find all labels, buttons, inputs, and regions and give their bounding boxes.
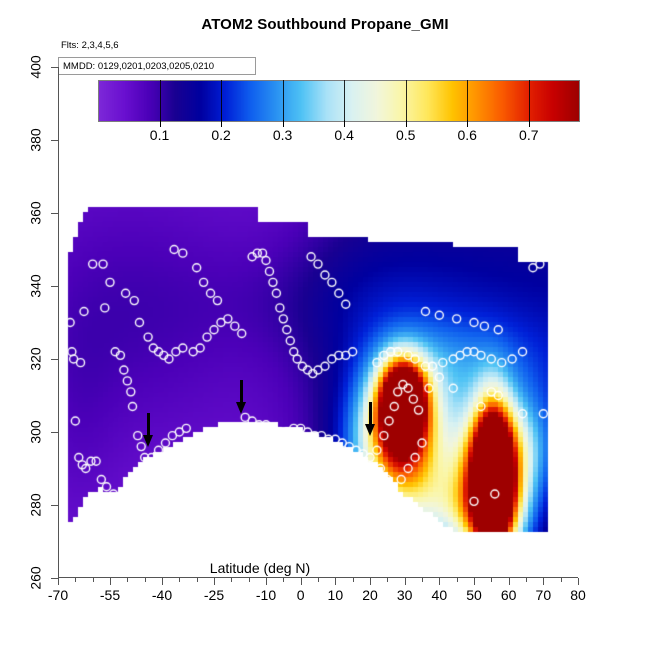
- x-axis-tick-minor: [93, 578, 94, 582]
- x-axis-tick-minor: [283, 578, 284, 582]
- x-axis-tick-label: -55: [100, 587, 120, 603]
- arrow-shaft: [240, 380, 243, 404]
- x-axis-tick-minor: [75, 578, 76, 582]
- y-axis-tick: [51, 432, 58, 433]
- arrow-shaft: [369, 402, 372, 426]
- x-axis-tick-label: 30: [397, 587, 413, 603]
- annotation-arrow: [365, 402, 376, 436]
- x-axis-tick-label: 70: [536, 587, 552, 603]
- data-field: [58, 67, 578, 578]
- page-title: ATOM2 Southbound Propane_GMI: [0, 16, 650, 33]
- y-axis-tick: [51, 140, 58, 141]
- x-axis-tick-label: 20: [362, 587, 378, 603]
- arrow-head: [143, 435, 153, 447]
- x-axis-tick-minor: [457, 578, 458, 582]
- x-axis-tick-label: -70: [48, 587, 68, 603]
- arrow-shaft: [147, 413, 150, 437]
- x-axis-tick-label: -40: [152, 587, 172, 603]
- x-axis-tick-major: [335, 578, 336, 585]
- annotation-arrow: [236, 380, 247, 414]
- x-axis-tick-major: [543, 578, 544, 585]
- x-axis-tick-major: [58, 578, 59, 585]
- x-axis-tick-minor: [145, 578, 146, 582]
- y-axis-tick: [51, 67, 58, 68]
- x-axis-tick-minor: [526, 578, 527, 582]
- x-axis-tick-major: [266, 578, 267, 585]
- x-axis-tick-major: [405, 578, 406, 585]
- x-axis-tick-minor: [127, 578, 128, 582]
- x-axis-tick-minor: [249, 578, 250, 582]
- y-axis-tick-label: 280: [28, 493, 44, 516]
- y-axis-tick-label: 260: [28, 566, 44, 589]
- x-axis-tick-minor: [197, 578, 198, 582]
- x-axis-tick-label: 50: [466, 587, 482, 603]
- x-axis-tick-major: [110, 578, 111, 585]
- data-points-layer: [58, 67, 578, 578]
- x-axis-tick-major: [162, 578, 163, 585]
- x-axis-tick-label: 40: [432, 587, 448, 603]
- x-axis-tick-major: [214, 578, 215, 585]
- x-axis-tick-minor: [491, 578, 492, 582]
- y-axis-tick: [51, 286, 58, 287]
- x-axis-label: Latitude (deg N): [210, 560, 310, 576]
- x-axis-tick-label: 60: [501, 587, 517, 603]
- x-axis-tick-label: 10: [328, 587, 344, 603]
- y-axis-tick: [51, 213, 58, 214]
- x-axis-tick-major: [439, 578, 440, 585]
- x-axis-tick-minor: [318, 578, 319, 582]
- x-axis-tick-label: 0: [297, 587, 305, 603]
- x-axis-tick-major: [509, 578, 510, 585]
- y-axis-tick-label: 360: [28, 201, 44, 224]
- y-axis-tick-label: 300: [28, 420, 44, 443]
- annotation-arrow: [143, 413, 154, 447]
- x-axis-tick-minor: [353, 578, 354, 582]
- y-axis-tick-label: 340: [28, 274, 44, 297]
- x-axis-tick-minor: [422, 578, 423, 582]
- arrow-head: [365, 424, 375, 436]
- y-axis-tick-label: 400: [28, 55, 44, 78]
- x-axis-tick-major: [370, 578, 371, 585]
- x-axis-tick-minor: [179, 578, 180, 582]
- x-axis-tick-major: [578, 578, 579, 585]
- x-axis-tick-minor: [561, 578, 562, 582]
- x-axis-tick-label: -10: [256, 587, 276, 603]
- x-axis-tick-major: [301, 578, 302, 585]
- chart-page: ATOM2 Southbound Propane_GMI Flts: 2,3,4…: [0, 0, 650, 650]
- plot-area: 260280300320340360380400 -70-55-40-25-10…: [58, 67, 578, 578]
- y-axis-tick-label: 380: [28, 128, 44, 151]
- x-axis-tick-major: [474, 578, 475, 585]
- y-axis-tick: [51, 359, 58, 360]
- y-axis-tick: [51, 578, 58, 579]
- y-axis-line: [58, 67, 59, 578]
- flights-annotation: Flts: 2,3,4,5,6: [61, 40, 119, 51]
- y-axis-tick-label: 320: [28, 347, 44, 370]
- x-axis-tick-label: -25: [204, 587, 224, 603]
- x-axis-tick-minor: [231, 578, 232, 582]
- x-axis-tick-minor: [387, 578, 388, 582]
- x-axis-tick-label: 80: [570, 587, 586, 603]
- arrow-head: [236, 402, 246, 414]
- y-axis-tick: [51, 505, 58, 506]
